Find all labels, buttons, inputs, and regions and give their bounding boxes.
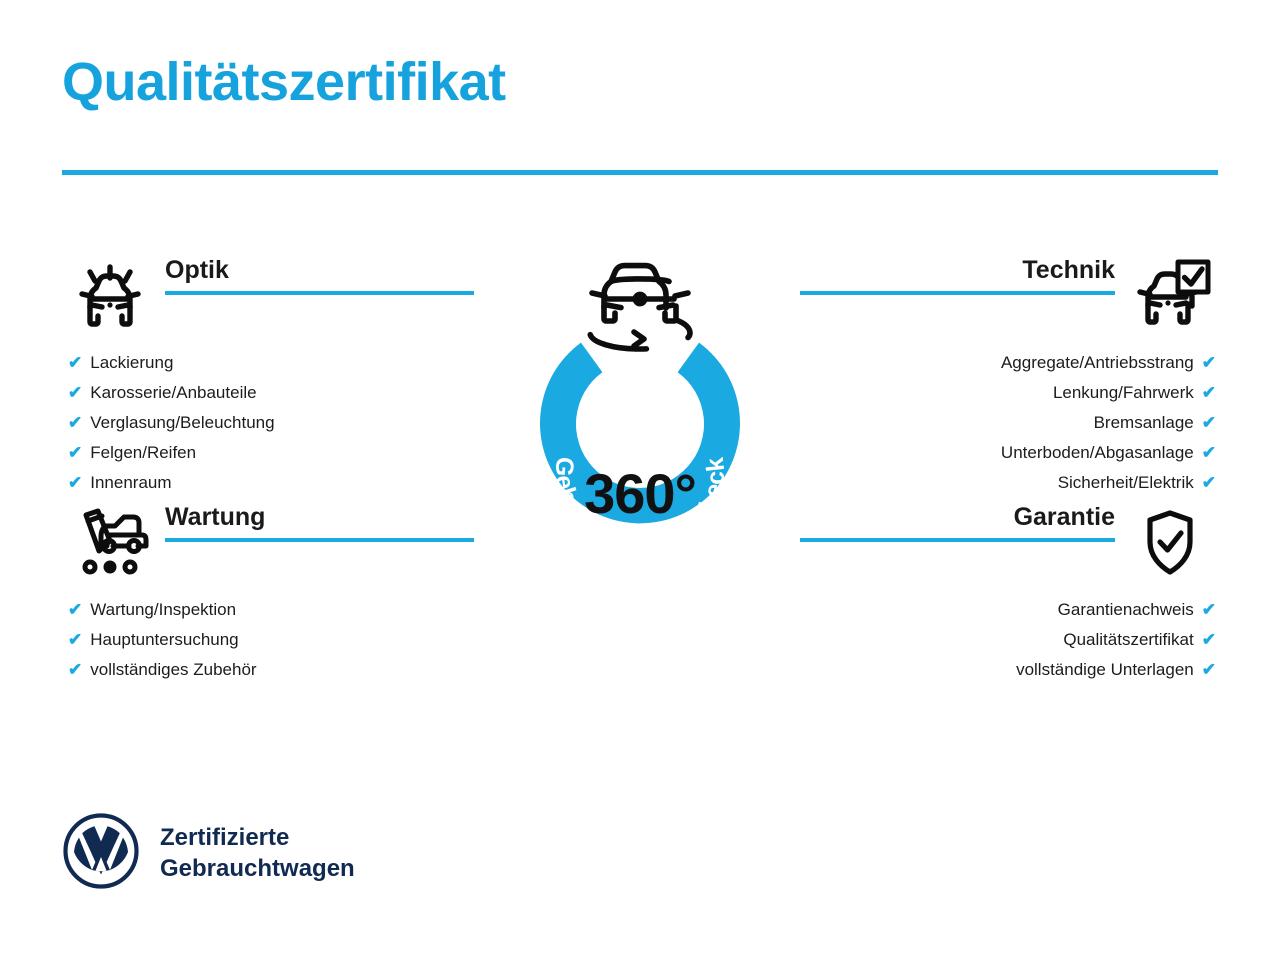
check-icon: ✔ [1202, 660, 1216, 679]
list-item: Lenkung/Fahrwerk✔ [800, 378, 1218, 408]
section-garantie-header: Garantie [800, 505, 1218, 579]
section-technik-title: Technik [800, 258, 1115, 291]
list-item: Qualitätszertifikat✔ [800, 625, 1218, 655]
check-icon: ✔ [68, 353, 82, 372]
list-item: ✔Karosserie/Anbauteile [62, 378, 474, 408]
section-optik-title: Optik [165, 258, 474, 291]
section-wartung-underline [165, 538, 474, 542]
check-icon: ✔ [1202, 383, 1216, 402]
header-divider [62, 170, 1218, 175]
section-technik-title-wrap: Technik [800, 258, 1115, 295]
list-item-label: Hauptuntersuchung [90, 630, 238, 649]
check-icon: ✔ [1202, 473, 1216, 492]
check-icon: ✔ [68, 443, 82, 462]
check-icon: ✔ [68, 630, 82, 649]
list-item: Bremsanlage✔ [800, 408, 1218, 438]
check-icon: ✔ [68, 600, 82, 619]
footer-brand: Zertifizierte Gebrauchtwagen [62, 812, 355, 895]
list-item: ✔Hauptuntersuchung [62, 625, 474, 655]
check-icon: ✔ [68, 660, 82, 679]
check-icon: ✔ [1202, 630, 1216, 649]
car-polish-shine-icon [62, 258, 158, 338]
section-optik-list: ✔Lackierung ✔Karosserie/Anbauteile ✔Verg… [62, 332, 474, 498]
list-item-label: Lackierung [90, 353, 173, 372]
list-item: Garantienachweis✔ [800, 595, 1218, 625]
section-garantie-title: Garantie [800, 505, 1115, 538]
section-wartung-header: Wartung [62, 505, 474, 579]
list-item: ✔Wartung/Inspektion [62, 595, 474, 625]
section-garantie-list: Garantienachweis✔ Qualitätszertifikat✔ v… [800, 579, 1218, 685]
section-technik-underline [800, 291, 1115, 295]
list-item-label: Lenkung/Fahrwerk [1053, 383, 1194, 402]
section-optik: Optik ✔Lackierung ✔Karosserie/Anbauteile… [62, 258, 474, 498]
list-item-label: Felgen/Reifen [90, 443, 196, 462]
section-technik-header: Technik [800, 258, 1218, 332]
certificate-page: Qualitätszertifikat [0, 0, 1280, 960]
list-item-label: Sicherheit/Elektrik [1058, 473, 1194, 492]
car-checkbox-icon [1122, 258, 1218, 338]
list-item-label: Aggregate/Antriebsstrang [1001, 353, 1194, 372]
list-item: ✔vollständiges Zubehör [62, 655, 474, 685]
check-icon: ✔ [1202, 443, 1216, 462]
check-icon: ✔ [68, 413, 82, 432]
section-optik-title-wrap: Optik [165, 258, 474, 295]
badge-center-label: 360° [584, 466, 696, 522]
list-item-label: Unterboden/Abgasanlage [1001, 443, 1194, 462]
section-technik-list: Aggregate/Antriebsstrang✔ Lenkung/Fahrwe… [800, 332, 1218, 498]
list-item: ✔Verglasung/Beleuchtung [62, 408, 474, 438]
section-garantie-title-wrap: Garantie [800, 505, 1115, 542]
service-book-pencil-car-icon [62, 505, 158, 585]
section-optik-underline [165, 291, 474, 295]
check-icon: ✔ [1202, 353, 1216, 372]
list-item-label: Wartung/Inspektion [90, 600, 236, 619]
page-title: Qualitätszertifikat [62, 55, 506, 109]
list-item-label: Qualitätszertifikat [1063, 630, 1193, 649]
section-garantie: Garantie Garantienachweis✔ Qualitätszert… [800, 505, 1218, 685]
list-item-label: Verglasung/Beleuchtung [90, 413, 274, 432]
list-item: Aggregate/Antriebsstrang✔ [800, 348, 1218, 378]
check-icon: ✔ [68, 473, 82, 492]
list-item-label: Bremsanlage [1094, 413, 1194, 432]
check-icon: ✔ [1202, 413, 1216, 432]
footer-brand-text: Zertifizierte Gebrauchtwagen [160, 823, 355, 884]
list-item: Sicherheit/Elektrik✔ [800, 468, 1218, 498]
list-item: ✔Innenraum [62, 468, 474, 498]
list-item: Unterboden/Abgasanlage✔ [800, 438, 1218, 468]
check-icon: ✔ [1202, 600, 1216, 619]
volkswagen-logo [62, 812, 140, 895]
section-technik: Technik Aggregate/Antriebsstrang✔ Lenkun… [800, 258, 1218, 498]
section-garantie-underline [800, 538, 1115, 542]
list-item-label: Karosserie/Anbauteile [90, 383, 256, 402]
list-item-label: Garantienachweis [1058, 600, 1194, 619]
section-optik-header: Optik [62, 258, 474, 332]
section-wartung-title-wrap: Wartung [165, 505, 474, 542]
section-wartung-list: ✔Wartung/Inspektion ✔Hauptuntersuchung ✔… [62, 579, 474, 685]
check-icon: ✔ [68, 383, 82, 402]
list-item-label: vollständige Unterlagen [1016, 660, 1194, 679]
shield-check-icon [1122, 505, 1218, 585]
list-item: vollständige Unterlagen✔ [800, 655, 1218, 685]
section-wartung: Wartung ✔Wartung/Inspektion ✔Hauptunters… [62, 505, 474, 685]
list-item: ✔Lackierung [62, 348, 474, 378]
section-wartung-title: Wartung [165, 505, 474, 538]
list-item-label: Innenraum [90, 473, 171, 492]
list-item: ✔Felgen/Reifen [62, 438, 474, 468]
badge-360-gebrauchtwagen-check: Gebrauchtwagen-Check 360° [466, 248, 814, 620]
list-item-label: vollständiges Zubehör [90, 660, 256, 679]
